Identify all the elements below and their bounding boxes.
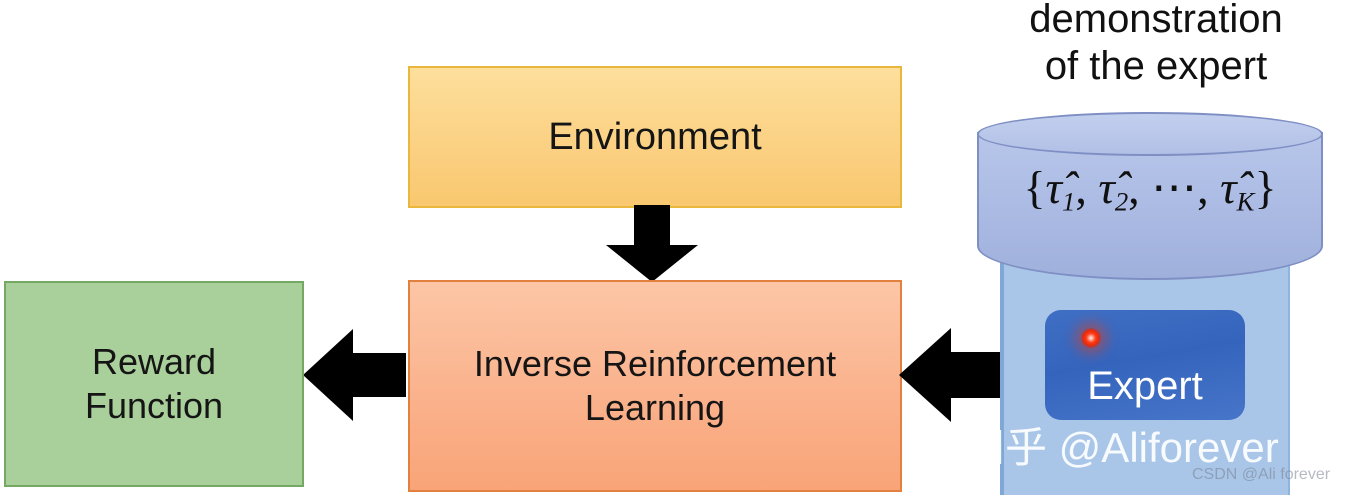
diagram-canvas: Environment Inverse Reinforcement Learni… bbox=[0, 0, 1349, 495]
trajectory-sep-3: , bbox=[1197, 162, 1220, 213]
trajectory-symbol-2: τ̂ bbox=[1098, 161, 1114, 214]
recording-dot-icon bbox=[1081, 328, 1101, 348]
expert-demonstration-caption: demonstration of the expert bbox=[962, 0, 1349, 90]
cylinder-top-ellipse bbox=[977, 112, 1323, 156]
arrow-irl-to-reward bbox=[303, 327, 407, 423]
box-inverse-reinforcement-learning: Inverse Reinforcement Learning bbox=[408, 280, 902, 492]
trajectory-sep-2: , bbox=[1128, 162, 1151, 213]
expert-node: Expert bbox=[1045, 310, 1245, 420]
box-environment: Environment bbox=[408, 66, 902, 208]
trajectory-subscript-2: 2 bbox=[1115, 186, 1128, 216]
arrow-expert-to-irl bbox=[899, 325, 1007, 425]
trajectory-subscript-k: K bbox=[1237, 186, 1255, 216]
expert-node-label: Expert bbox=[1087, 366, 1203, 416]
trajectory-symbol-1: τ̂ bbox=[1046, 161, 1062, 214]
expert-demonstration-group: {τ̂1, τ̂2, ⋯, τ̂K} Expert bbox=[1000, 112, 1300, 495]
trajectory-open-brace: { bbox=[1023, 162, 1045, 213]
trajectory-subscript-1: 1 bbox=[1062, 186, 1075, 216]
trajectory-sep-1: , bbox=[1075, 162, 1098, 213]
trajectory-close-brace: } bbox=[1254, 162, 1276, 213]
trajectory-symbol-k: τ̂ bbox=[1220, 161, 1236, 214]
trajectory-ellipsis: ⋯ bbox=[1151, 162, 1197, 213]
box-reward-function: Reward Function bbox=[4, 281, 304, 487]
trajectory-database-cylinder: {τ̂1, τ̂2, ⋯, τ̂K} bbox=[977, 112, 1323, 297]
trajectory-set-label: {τ̂1, τ̂2, ⋯, τ̂K} bbox=[977, 160, 1323, 217]
arrow-environment-to-irl bbox=[604, 205, 700, 283]
